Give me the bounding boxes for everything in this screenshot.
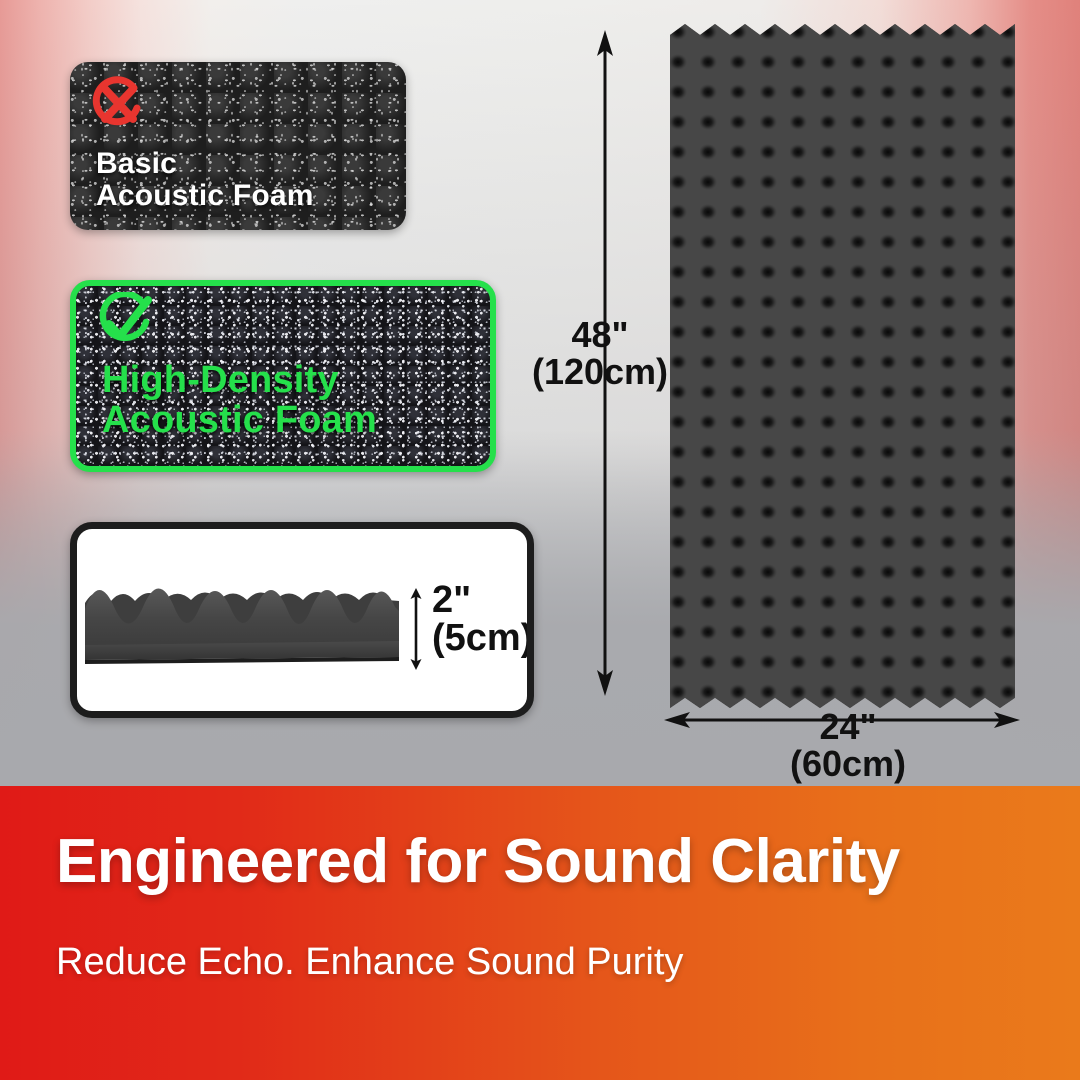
acoustic-foam-panel — [670, 24, 1015, 708]
card-foam-thickness-profile: 2" (5cm) — [70, 522, 534, 718]
card-basic-foam: Basic Acoustic Foam — [70, 62, 406, 230]
product-infographic: Basic Acoustic Foam High-Density Acousti… — [0, 0, 1080, 1080]
foam-panel-texture — [670, 24, 1015, 708]
cross-circle-icon — [88, 74, 148, 134]
foam-side-profile-illustration — [77, 557, 419, 677]
thickness-dimension-arrow — [407, 587, 425, 671]
check-circle-icon — [92, 292, 156, 356]
card-high-density-foam: High-Density Acoustic Foam — [70, 280, 496, 472]
foam-thickness-label: 2" (5cm) — [432, 581, 533, 657]
panel-width-label: 24" (60cm) — [728, 708, 968, 783]
card-high-density-foam-label: High-Density Acoustic Foam — [102, 360, 377, 441]
card-basic-foam-label: Basic Acoustic Foam — [96, 148, 314, 212]
banner-headline: Engineered for Sound Clarity — [56, 826, 900, 897]
banner-subtitle: Reduce Echo. Enhance Sound Purity — [56, 941, 683, 984]
panel-height-label: 48" (120cm) — [520, 316, 680, 391]
bottom-banner: Engineered for Sound Clarity Reduce Echo… — [0, 786, 1080, 1080]
